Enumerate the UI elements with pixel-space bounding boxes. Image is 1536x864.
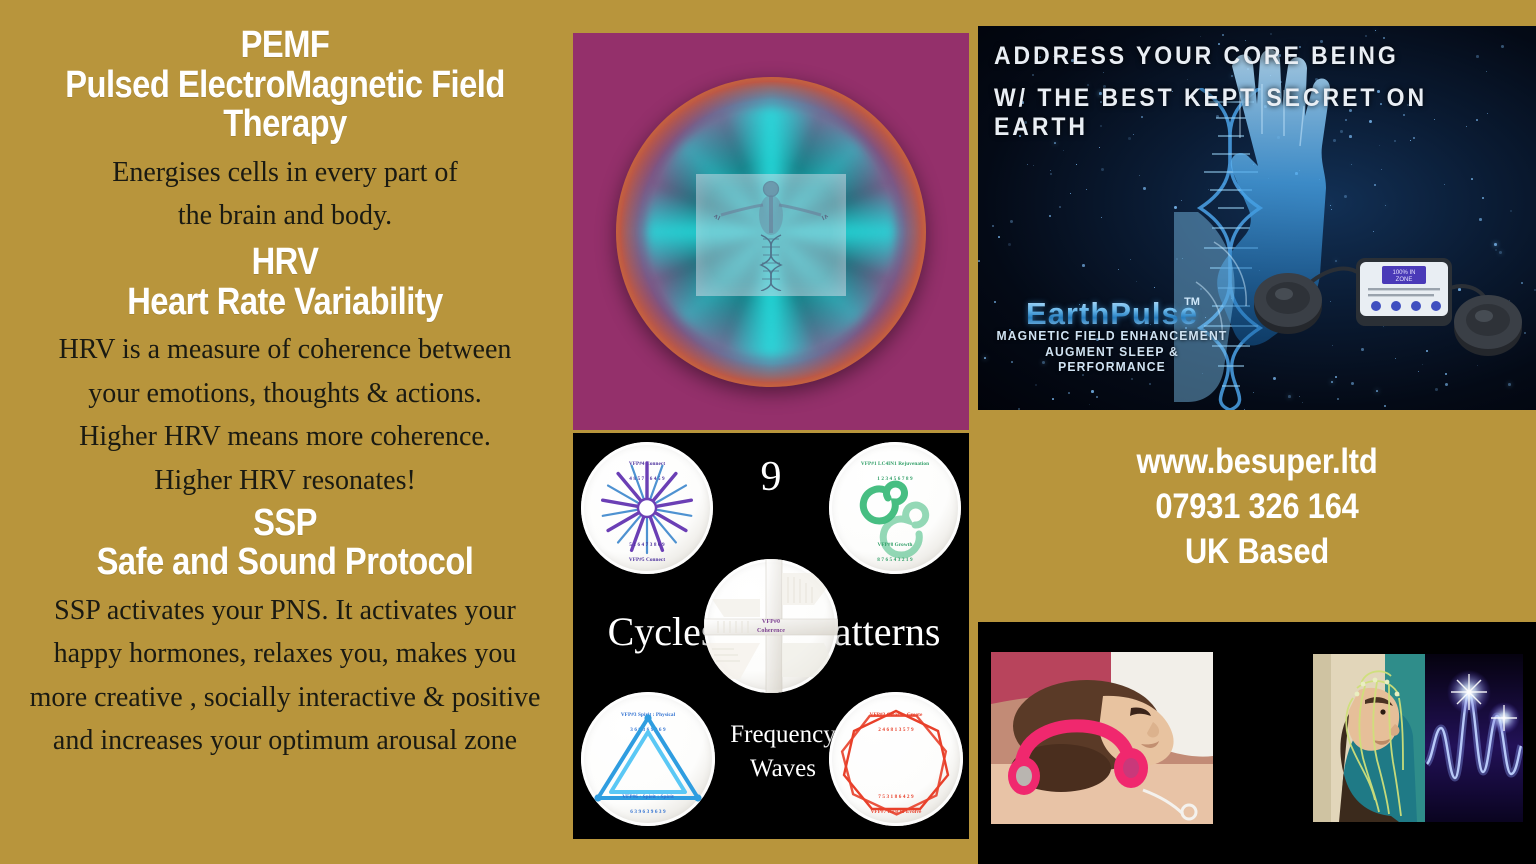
ssp-body: SSP activates your PNS. It activates you… — [0, 589, 570, 763]
photo-brainwave-graphic — [1425, 654, 1523, 822]
pemf-device-image: 100% IN ZONE — [1246, 236, 1526, 376]
earthpulse-logo-block: EarthPulse TM MAGNETIC FIELD ENHANCEMENT… — [988, 298, 1236, 376]
trademark-symbol: TM — [1184, 296, 1200, 308]
emblem-heptagon-label-bottom: 7 5 3 1 8 6 4 2 9 VFP#7 Heal to Evolve — [829, 787, 963, 817]
hrv-title: Heart Rate Variability — [40, 283, 530, 323]
pemf-title: Pulsed ElectroMagnetic Field Therapy — [40, 66, 530, 145]
pemf-body: Energises cells in every part of the bra… — [0, 151, 570, 238]
banner-headline-line1: ADDRESS YOUR CORE BEING — [994, 42, 1399, 71]
energy-field-sphere-image — [616, 77, 926, 387]
nine-cycles-patterns-panel: 9 Cycles Patterns Frequency Waves VFP#4 … — [573, 433, 969, 839]
phone-number[interactable]: 07931 326 164 — [1011, 485, 1502, 530]
emblem-coherence-label: VFP#0 Coherence — [704, 618, 838, 635]
section-pemf: PEMF Pulsed ElectroMagnetic Field Therap… — [0, 26, 570, 237]
hrv-acronym: HRV — [40, 243, 530, 283]
coil-applicator-right — [1454, 295, 1522, 356]
coil-applicator-left — [1254, 273, 1322, 334]
emblem-spiral: VFP#1 LC4IN1 Rejuvenation 1 2 3 4 5 6 7 … — [829, 442, 961, 574]
emblem-spiral-label-bottom: VFP#8 Growth 8 7 6 5 4 3 2 1 9 — [829, 535, 961, 565]
svg-text:100% IN: 100% IN — [1392, 270, 1415, 276]
logo-tagline-1: MAGNETIC FIELD ENHANCEMENT — [992, 329, 1233, 345]
therapy-photos-panel — [978, 622, 1536, 864]
earthpulse-banner: EarthPulse TM MAGNETIC FIELD ENHANCEMENT… — [978, 26, 1536, 410]
banner-headline-line2: W/ THE BEST KEPT SECRET ON EARTH — [994, 84, 1493, 142]
pemf-acronym: PEMF — [40, 26, 530, 66]
svg-text:ZONE: ZONE — [1396, 277, 1413, 283]
energy-sphere-panel — [573, 33, 969, 430]
earthpulse-wordmark: EarthPulse — [1026, 296, 1198, 331]
photo-woman-eeg-cap — [1313, 654, 1425, 822]
promotional-poster: PEMF Pulsed ElectroMagnetic Field Therap… — [0, 0, 1536, 864]
hrv-body: HRV is a measure of coherence between yo… — [0, 328, 570, 502]
emblem-heptagon: VFP#2 Clear to Create 2 4 6 8 1 3 5 7 9 … — [829, 692, 963, 826]
emblem-triangle: VFP#3 Spirit : Physical 3 6 9 3 6 9 3 6 … — [581, 692, 715, 826]
info-text-column: PEMF Pulsed ElectroMagnetic Field Therap… — [0, 20, 570, 840]
website-link[interactable]: www.besuper.ltd — [1011, 440, 1502, 485]
location-label: UK Based — [1011, 530, 1502, 575]
control-unit: 100% IN ZONE — [1356, 258, 1452, 326]
emblem-star-label-bottom: 5 1 6 4 7 3 8 6 9 VFP#5 Connect — [581, 535, 713, 565]
emblem-triangle-label-bottom: VFP#6 · Spirit : Spirit 6 3 9 6 3 9 6 3 … — [581, 787, 715, 817]
section-ssp: SSP Safe and Sound Protocol SSP activate… — [0, 504, 570, 763]
ssp-title: Safe and Sound Protocol — [40, 543, 530, 583]
section-hrv: HRV Heart Rate Variability HRV is a meas… — [0, 243, 570, 502]
emblem-coherence: VFP#0 Coherence — [704, 559, 838, 693]
emblem-star: VFP#4 Connect 4 8 5 7 2 6 4 5 9 — [581, 442, 713, 574]
photo-girl-with-headphones — [991, 652, 1213, 824]
ssp-acronym: SSP — [40, 504, 530, 544]
contact-details: www.besuper.ltd 07931 326 164 UK Based — [978, 440, 1536, 574]
human-figure-dna-icon — [711, 173, 831, 291]
logo-tagline-2: AUGMENT SLEEP & PERFORMANCE — [992, 345, 1233, 376]
